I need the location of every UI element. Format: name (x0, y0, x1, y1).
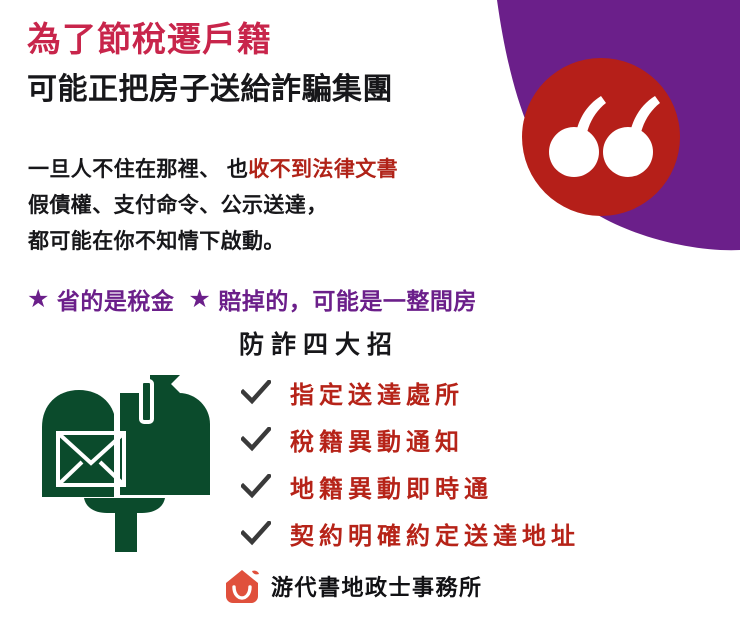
tip-label: 指定送達處所 (290, 375, 464, 410)
tip-row: 契約明確約定送達地址 (236, 510, 731, 557)
star-callout-1: ★ 省的是稅金 (27, 282, 174, 316)
star-callout-1-label: 省的是稅金 (57, 282, 175, 316)
tips-block: 防詐四大招 指定送達處所 稅籍異動通知 地籍異動即 (236, 330, 731, 557)
body-line-1-highlight: 收不到法律文書 (248, 158, 398, 181)
tip-row: 指定送達處所 (236, 369, 731, 416)
star-icon: ★ (188, 287, 211, 312)
tip-row: 稅籍異動通知 (236, 416, 731, 463)
mailbox-icon (24, 365, 229, 565)
body-line-3: 都可能在你不知情下啟動。 (28, 224, 528, 260)
body-line-1: 一旦人不住在那裡、 也收不到法律文書 (28, 152, 528, 188)
star-callout-line: ★ 省的是稅金 ★ 賠掉的，可能是一整間房 (27, 282, 477, 316)
headline-block: 為了節稅遷戶籍 可能正把房子送給詐騙集團 (27, 18, 557, 109)
check-icon (236, 474, 276, 500)
check-icon (236, 380, 276, 406)
tip-label: 契約明確約定送達地址 (290, 516, 580, 551)
footer-brand-name: 游代書地政士事務所 (271, 570, 483, 602)
tip-label: 地籍異動即時通 (290, 469, 493, 504)
headline-line-2: 可能正把房子送給詐騙集團 (27, 70, 557, 110)
tip-label: 稅籍異動通知 (290, 422, 464, 457)
body-line-2: 假債權、支付命令、公示送達， (28, 188, 528, 224)
star-callout-2: ★ 賠掉的，可能是一整間房 (188, 282, 476, 316)
body-line-1-plain: 一旦人不住在那裡、 也 (28, 158, 248, 181)
tips-heading: 防詐四大招 (239, 330, 731, 360)
check-icon (236, 427, 276, 453)
house-smile-logo-icon (222, 566, 262, 606)
tip-row: 地籍異動即時通 (236, 463, 731, 510)
footer-brand: 游代書地政士事務所 (222, 566, 483, 606)
headline-line-1: 為了節稅遷戶籍 (27, 18, 557, 63)
poster-canvas: 為了節稅遷戶籍 可能正把房子送給詐騙集團 一旦人不住在那裡、 也收不到法律文書 … (0, 0, 740, 620)
body-paragraph: 一旦人不住在那裡、 也收不到法律文書 假債權、支付命令、公示送達， 都可能在你不… (28, 152, 528, 260)
star-callout-2-label: 賠掉的，可能是一整間房 (218, 282, 477, 316)
star-icon: ★ (27, 287, 50, 312)
check-icon (236, 521, 276, 547)
